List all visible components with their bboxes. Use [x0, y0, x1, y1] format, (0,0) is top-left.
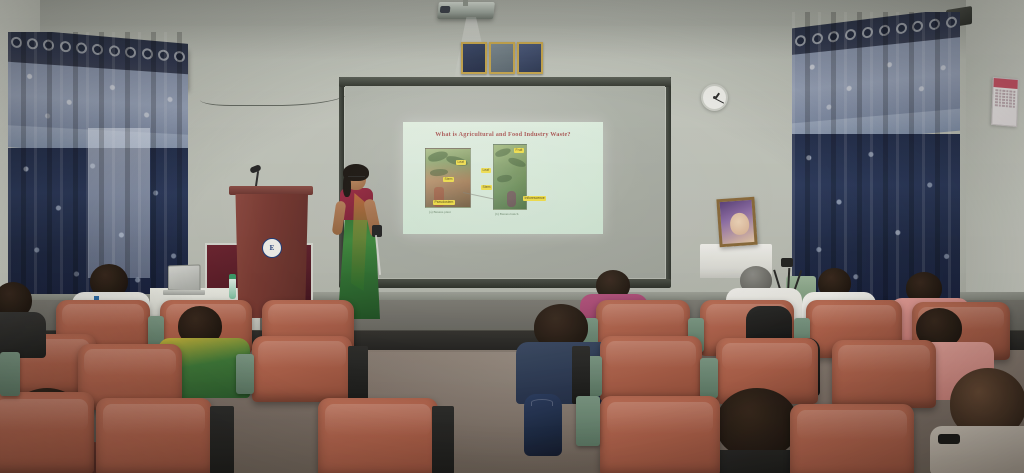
- slide-caption-a: (a) Banana plant: [429, 210, 451, 214]
- presentation-clicker: [372, 225, 382, 237]
- seminar-hall-photograph: What is Agricultural and Food Industry W…: [0, 0, 1024, 473]
- slide-caption-b: (b) Banana bunch: [495, 212, 518, 216]
- seat-armrest-dark: [432, 406, 454, 473]
- seat-armrest: [0, 352, 20, 396]
- window-curtain-left: [8, 32, 188, 294]
- wall-clock: [701, 84, 728, 111]
- screen-side-rail-right: [666, 77, 671, 282]
- person-head: [716, 388, 798, 458]
- speaker-podium: E: [232, 186, 310, 318]
- podium-emblem: E: [262, 238, 282, 258]
- slide-label-stem-2: Stem: [481, 185, 492, 190]
- navy-backpack: [524, 394, 562, 456]
- slide-label-leaf-2: Leaf: [481, 168, 491, 173]
- projection-screen: What is Agricultural and Food Industry W…: [345, 86, 665, 278]
- seat-armrest-dark: [348, 346, 368, 404]
- slide-label-stem: Stem: [443, 177, 454, 182]
- slide-label-pseudostem: Pseudostem: [433, 200, 455, 205]
- wall-calendar: [991, 77, 1019, 127]
- hanging-cable: [200, 76, 350, 106]
- calendar-grid: [993, 87, 1018, 110]
- wall-frame-right: [517, 42, 543, 74]
- tripod-head: [781, 258, 793, 267]
- portrait-face: [729, 212, 749, 235]
- laptop-base: [163, 290, 205, 295]
- seat-armrest-dark: [210, 406, 234, 473]
- slide-label-leaf: Leaf: [456, 160, 466, 165]
- projected-slide: What is Agricultural and Food Industry W…: [403, 122, 603, 234]
- clock-center-pin: [713, 96, 716, 99]
- framed-portrait: [716, 197, 757, 248]
- banana-bunch-photo: [493, 144, 527, 210]
- slide-title: What is Agricultural and Food Industry W…: [403, 131, 603, 138]
- seat-armrest: [236, 354, 254, 394]
- auditorium-seat[interactable]: [252, 336, 352, 402]
- wall-frame-center: [489, 42, 515, 74]
- podium-top: [229, 186, 313, 195]
- seat-armrest: [700, 358, 718, 398]
- presentation-laptop[interactable]: [168, 264, 201, 291]
- wall-frame-group: [461, 42, 543, 74]
- projector-mount: [463, 0, 468, 6]
- window-curtain-right: [792, 12, 960, 302]
- eyeglasses-icon: [348, 176, 365, 180]
- auditorium-seat[interactable]: [96, 398, 212, 473]
- auditorium-seat[interactable]: [600, 396, 720, 473]
- auditorium-seat[interactable]: [600, 336, 702, 402]
- wall-frame-left: [461, 42, 487, 74]
- presenter: [327, 167, 385, 322]
- seat-armrest: [576, 396, 600, 446]
- auditorium-seat[interactable]: [790, 404, 914, 473]
- curtain-pleats-left: [8, 32, 188, 294]
- screen-surface: What is Agricultural and Food Industry W…: [345, 86, 665, 278]
- auditorium-seat[interactable]: [0, 392, 94, 473]
- slide-label-fruit: Fruit: [514, 148, 524, 153]
- auditorium-seat[interactable]: [832, 340, 936, 408]
- curtain-pleats-right: [792, 12, 960, 302]
- wristwatch: [938, 434, 960, 444]
- projector-lens: [440, 6, 451, 13]
- auditorium-seat[interactable]: [318, 398, 438, 473]
- backpack-strap: [531, 399, 553, 406]
- slide-label-inflorescence: Inflorescence: [523, 196, 546, 201]
